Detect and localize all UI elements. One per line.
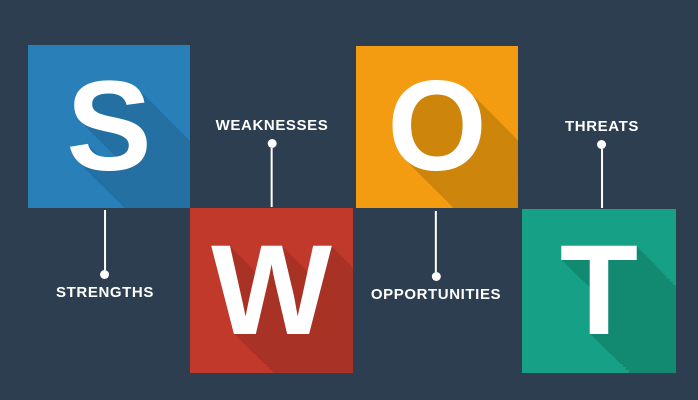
callout-label-opportunities: OPPORTUNITIES	[371, 287, 501, 302]
callout-strengths[interactable]: STRENGTHS	[56, 210, 154, 300]
letter-w: W	[190, 208, 353, 373]
letter-s: S	[28, 45, 190, 208]
callout-opportunities[interactable]: OPPORTUNITIES	[371, 211, 501, 302]
connector-dot-threats	[597, 140, 606, 149]
letter-o: O	[356, 46, 518, 208]
callout-threats[interactable]: THREATS	[565, 119, 639, 208]
tile-threats[interactable]: T T	[522, 209, 676, 373]
connector-dot-strengths	[101, 270, 110, 279]
tile-opportunities[interactable]: O O	[356, 46, 518, 208]
tile-weaknesses[interactable]: W W	[190, 208, 353, 373]
connector-line-weaknesses	[271, 148, 273, 207]
callout-weaknesses[interactable]: WEAKNESSES	[216, 118, 329, 207]
connector-dot-opportunities	[432, 272, 441, 281]
connector-line-opportunities	[435, 211, 437, 272]
tile-strengths[interactable]: S S	[28, 45, 190, 208]
callout-label-weaknesses: WEAKNESSES	[216, 118, 329, 133]
swot-diagram: S S W W O O T T STRENGTHS WEAKNESSES OPP…	[0, 0, 698, 400]
callout-label-threats: THREATS	[565, 119, 639, 134]
connector-line-threats	[601, 149, 603, 208]
letter-t: T	[522, 209, 676, 373]
connector-line-strengths	[104, 210, 106, 270]
callout-label-strengths: STRENGTHS	[56, 285, 154, 300]
connector-dot-weaknesses	[268, 139, 277, 148]
